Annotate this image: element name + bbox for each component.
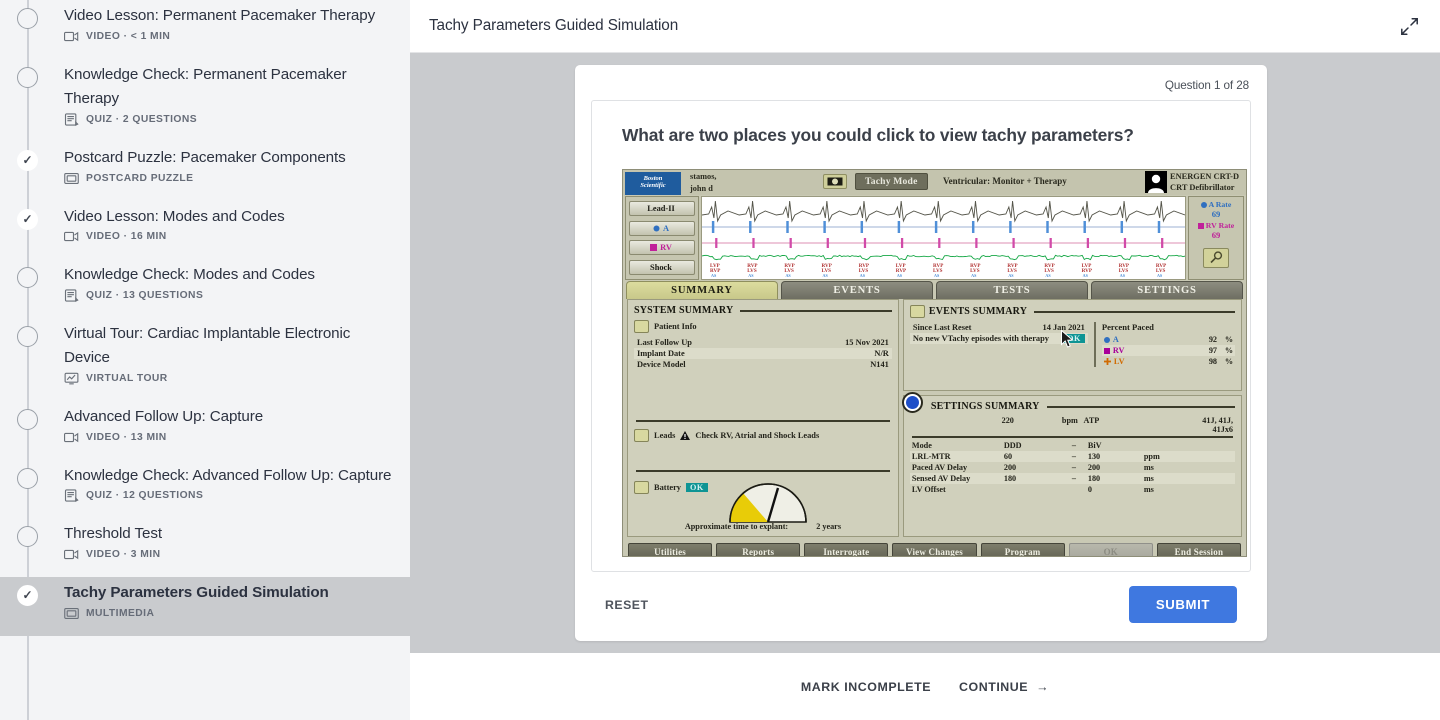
device-header: Boston Scientific stamos, john d Tachy M… (623, 170, 1246, 195)
title-rule (1034, 311, 1235, 313)
rate-legend-box: A Rate 69 RV Rate 69 (1188, 196, 1244, 280)
device-button-utilities[interactable]: Utilities (628, 543, 712, 557)
lesson-meta: VIDEO · < 1 MIN (64, 30, 392, 43)
device-button-view-changes[interactable]: View Changes (892, 543, 976, 557)
lesson-item[interactable]: ✓Postcard Puzzle: Pacemaker ComponentsPO… (0, 142, 410, 201)
leads-row[interactable]: Leads Check RV, Atrial and Shock Leads (634, 429, 892, 442)
a-marker (972, 221, 974, 233)
explant-label: Approximate time to explant: (685, 522, 788, 531)
svg-text:AS: AS (897, 273, 903, 278)
device-model-line1: ENERGEN CRT-D (1170, 171, 1239, 182)
device-tab-label: SUMMARY (671, 285, 733, 296)
ventricular-mode-label: Ventricular: Monitor + Therapy (943, 176, 1067, 186)
events-split: Since Last Reset 14 Jan 2021 No new VTac… (910, 322, 1235, 367)
marker-circle-icon (1104, 337, 1110, 343)
lesson-meta-text: QUIZ · 2 QUESTIONS (86, 114, 197, 125)
continue-button[interactable]: CONTINUE → (959, 680, 1049, 694)
set-label: LRL-MTR (912, 452, 1004, 461)
lesson-sidebar: Video Lesson: Permanent Pacemaker Therap… (0, 0, 410, 720)
set-label: Mode (912, 441, 1004, 450)
set-v1: DDD (1004, 441, 1060, 450)
settings-row: Paced AV Delay200–200ms (910, 462, 1235, 473)
lead-button-lead-ii[interactable]: Lead-II (629, 201, 695, 216)
lesson-meta: VIDEO · 13 MIN (64, 431, 392, 444)
set-label: LV Offset (912, 485, 1004, 494)
lesson-meta-text: VIDEO · 3 MIN (86, 549, 161, 560)
lead-button-group: Lead-II A RV Shock (625, 196, 699, 280)
settings-energies: 41J, 41J, 41Jx6 (1181, 416, 1233, 434)
settings-row: LV Offset0ms (910, 484, 1235, 495)
patient-name: stamos, john d (690, 171, 717, 193)
set-unit: ms (1144, 463, 1188, 472)
expand-arrows-icon[interactable] (1396, 13, 1422, 39)
submit-button[interactable]: SUBMIT (1129, 586, 1237, 623)
device-tab-tests[interactable]: TESTS (936, 281, 1088, 299)
events-summary-title: EVENTS SUMMARY (910, 305, 1235, 318)
percent-paced-row: LV98% (1102, 356, 1235, 367)
device-button-label: Interrogate (823, 547, 869, 557)
v-marker (827, 238, 829, 248)
lesson-meta-text: QUIZ · 13 QUESTIONS (86, 290, 203, 301)
lead-button-rv[interactable]: RV (629, 240, 695, 255)
quiz-icon (64, 113, 79, 126)
marker-plus-icon (1104, 358, 1111, 365)
activity-stage: Question 1 of 28 What are two places you… (410, 53, 1440, 653)
ecg-traces: LVPRVPASRVPLVSASRVPLVSASRVPLVSASRVPLVSAS… (702, 197, 1185, 279)
lesson-list: Video Lesson: Permanent Pacemaker Therap… (0, 0, 410, 636)
lesson-item[interactable]: Knowledge Check: Advanced Follow Up: Cap… (0, 460, 410, 519)
v-marker (864, 238, 866, 248)
device-button-interrogate[interactable]: Interrogate (804, 543, 888, 557)
settings-summary-panel[interactable]: SETTINGS SUMMARY 220 bpm ATP (903, 395, 1242, 537)
battery-icon (634, 481, 649, 494)
percent-paced-block: Percent Paced A92%RV97%LV98% (1102, 322, 1235, 367)
arrow-right-icon: → (1036, 680, 1049, 694)
settings-rows: ModeDDD–BiVLRL-MTR60–130ppmPaced AV Dela… (910, 440, 1235, 495)
pp-name: A (1104, 335, 1195, 344)
device-tab-summary[interactable]: SUMMARY (626, 281, 778, 299)
device-toggle-icon[interactable] (823, 174, 847, 189)
logo-line-2: Scientific (640, 183, 665, 190)
device-model-text: ENERGEN CRT-D CRT Defibrillator (1170, 171, 1239, 194)
svg-text:AS: AS (748, 273, 754, 278)
settings-bullet-icon (902, 392, 923, 413)
pp-value: 97 (1195, 346, 1217, 355)
system-summary-row: Last Follow Up15 Nov 2021 (634, 337, 892, 348)
ecg-waveform-area[interactable]: LVPRVPASRVPLVSASRVPLVSASRVPLVSASRVPLVSAS… (701, 196, 1186, 280)
pp-name: RV (1104, 346, 1195, 355)
patient-info-row[interactable]: Patient Info (634, 320, 892, 333)
set-v1: 180 (1004, 474, 1060, 483)
v-marker (1161, 238, 1163, 248)
lesson-meta: QUIZ · 13 QUESTIONS (64, 289, 392, 302)
v-marker (901, 238, 903, 248)
device-tab-events[interactable]: EVENTS (781, 281, 933, 299)
lesson-status-incomplete-icon (17, 67, 38, 88)
settings-summary-title: SETTINGS SUMMARY (910, 401, 1235, 412)
lesson-status-complete-icon: ✓ (17, 585, 38, 606)
set-unit (1144, 441, 1188, 450)
svg-text:AS: AS (1083, 273, 1089, 278)
set-v1: 200 (1004, 463, 1060, 472)
device-model-line2: CRT Defibrillator (1170, 182, 1239, 193)
lesson-meta: VIDEO · 16 MIN (64, 230, 392, 243)
v-marker (715, 238, 717, 248)
video-icon (64, 230, 79, 243)
divider (636, 420, 890, 422)
set-unit: ms (1144, 485, 1188, 494)
leads-icon (634, 429, 649, 442)
lesson-meta-text: VIDEO · < 1 MIN (86, 31, 170, 42)
set-v2: 200 (1088, 463, 1144, 472)
question-actions: RESET SUBMIT (591, 572, 1251, 641)
settings-rate-unit: bpm (1056, 416, 1083, 434)
a-marker (823, 221, 825, 233)
lesson-status-incomplete-icon (17, 326, 38, 347)
lesson-status-incomplete-icon (17, 468, 38, 489)
device-panels: SYSTEM SUMMARY Patient Info Last Follow … (623, 299, 1246, 537)
rv-rate-legend: RV Rate (1198, 221, 1234, 230)
svg-text:AS: AS (785, 273, 791, 278)
set-v1 (1004, 485, 1060, 494)
lesson-item[interactable]: Knowledge Check: Modes and CodesQUIZ · 1… (0, 259, 410, 318)
question-body: What are two places you could click to v… (591, 100, 1251, 572)
since-last-reset-label: Since Last Reset (913, 323, 972, 332)
leads-warning-text: Check RV, Atrial and Shock Leads (695, 431, 819, 440)
title-rule (1047, 406, 1235, 408)
a-marker (898, 221, 900, 233)
video-icon (64, 30, 79, 43)
device-button-label: OK (1104, 547, 1118, 557)
question-counter: Question 1 of 28 (591, 79, 1251, 100)
lesson-status-incomplete-icon (17, 409, 38, 430)
battery-status-badge: OK (686, 483, 708, 492)
a-marker-icon (653, 225, 660, 232)
row-label: Last Follow Up (637, 338, 692, 347)
lesson-item[interactable]: Virtual Tour: Cardiac Implantable Electr… (0, 318, 410, 401)
video-icon (64, 431, 79, 444)
set-v2: 180 (1088, 474, 1144, 483)
device-button-label: Program (1005, 547, 1041, 557)
patient-last-name: stamos, (690, 171, 717, 182)
percent-paced-row: RV97% (1102, 345, 1235, 356)
lesson-title: Virtual Tour: Cardiac Implantable Electr… (64, 322, 392, 371)
set-v1: 60 (1004, 452, 1060, 461)
device-tab-label: EVENTS (833, 285, 880, 296)
lesson-meta-text: VIDEO · 16 MIN (86, 231, 167, 242)
v-marker (1124, 238, 1126, 248)
set-label: Paced AV Delay (912, 463, 1004, 472)
lesson-status-complete-icon: ✓ (17, 209, 38, 230)
v-marker (975, 238, 977, 248)
rv-marker-icon (650, 244, 657, 251)
pp-name: LV (1104, 357, 1195, 366)
lesson-meta-text: QUIZ · 12 QUESTIONS (86, 490, 203, 501)
events-message: No new VTachy episodes with therapy (913, 334, 1049, 343)
device-button-label: Utilities (654, 547, 686, 557)
set-unit: ms (1144, 474, 1188, 483)
waveform-band: Lead-II A RV Shock (623, 195, 1246, 280)
events-status-badge: OK (1063, 334, 1085, 343)
system-summary-title: SYSTEM SUMMARY (634, 305, 892, 316)
rv-rate-label: RV Rate (1206, 221, 1234, 230)
activity-footer: MARK INCOMPLETE CONTINUE → (410, 653, 1440, 720)
percent-paced-rows: A92%RV97%LV98% (1102, 334, 1235, 367)
quiz-icon (64, 489, 79, 502)
patient-info-label: Patient Info (654, 322, 697, 331)
system-summary-rows: Last Follow Up15 Nov 2021Implant DateN/R… (634, 337, 892, 370)
settings-summary-title-text: SETTINGS SUMMARY (931, 401, 1040, 412)
divider (636, 470, 890, 472)
battery-label: Battery (654, 483, 681, 492)
multimedia-icon (64, 172, 79, 185)
settings-header-row: 220 bpm ATP 41J, 41J, 41Jx6 (910, 416, 1235, 436)
lesson-title: Postcard Puzzle: Pacemaker Components (64, 146, 392, 171)
device-tab-label: SETTINGS (1137, 285, 1196, 296)
explant-gauge (726, 481, 810, 523)
row-label: Implant Date (637, 349, 685, 358)
pp-unit: % (1217, 346, 1233, 355)
quiz-icon (64, 289, 79, 302)
marker-square-icon (1104, 348, 1110, 354)
a-rate-legend: A Rate (1201, 200, 1232, 209)
patient-first-name: john d (690, 183, 717, 194)
lesson-item[interactable]: ✓Video Lesson: Modes and CodesVIDEO · 16… (0, 201, 410, 260)
settings-row: ModeDDD–BiV (910, 440, 1235, 451)
lesson-title: Video Lesson: Permanent Pacemaker Therap… (64, 4, 392, 29)
boston-scientific-logo: Boston Scientific (625, 172, 681, 195)
a-rate-value: 69 (1212, 209, 1221, 219)
lesson-title: Video Lesson: Modes and Codes (64, 205, 392, 230)
pp-value: 92 (1195, 335, 1217, 344)
set-v2: BiV (1088, 441, 1144, 450)
events-message-row: No new VTachy episodes with therapy OK (910, 333, 1088, 344)
v-marker (752, 238, 754, 248)
svg-text:AS: AS (711, 273, 717, 278)
svg-text:AS: AS (860, 273, 866, 278)
set-label: Sensed AV Delay (912, 474, 1004, 483)
device-button-program[interactable]: Program (981, 543, 1065, 557)
warning-triangle-icon (680, 431, 690, 440)
continue-label: CONTINUE (959, 680, 1028, 694)
lead-label: Shock (650, 261, 672, 274)
set-dash: – (1060, 474, 1088, 483)
tour-icon (64, 372, 79, 385)
leads-label: Leads (654, 431, 675, 440)
a-marker (1009, 221, 1011, 233)
row-value: 15 Nov 2021 (845, 338, 889, 347)
lead-button-shock[interactable]: Shock (629, 260, 695, 275)
a-marker (935, 221, 937, 233)
rv-rate-marker-icon (1198, 223, 1204, 229)
pp-unit: % (1217, 335, 1233, 344)
pacemaker-programmer-screen[interactable]: Boston Scientific stamos, john d Tachy M… (622, 169, 1247, 557)
svg-text:AS: AS (1120, 273, 1126, 278)
lesson-title: Advanced Follow Up: Capture (64, 405, 392, 430)
system-summary-row: Device ModelN141 (634, 359, 892, 370)
since-last-reset-value: 14 Jan 2021 (1043, 323, 1085, 332)
a-marker (1046, 221, 1048, 233)
lead-label: A (663, 222, 669, 235)
lesson-item[interactable]: Advanced Follow Up: CaptureVIDEO · 13 MI… (0, 401, 410, 460)
lesson-title: Knowledge Check: Modes and Codes (64, 263, 392, 288)
question-card: Question 1 of 28 What are two places you… (575, 65, 1267, 641)
lesson-status-incomplete-icon (17, 526, 38, 547)
video-icon (64, 548, 79, 561)
course-player: Video Lesson: Permanent Pacemaker Therap… (0, 0, 1440, 720)
device-button-label: End Session (1175, 547, 1223, 557)
lesson-status-incomplete-icon (17, 8, 38, 29)
events-left: Since Last Reset 14 Jan 2021 No new VTac… (910, 322, 1088, 367)
lesson-title: Knowledge Check: Advanced Follow Up: Cap… (64, 464, 392, 489)
svg-text:AS: AS (1045, 273, 1051, 278)
svg-text:AS: AS (971, 273, 977, 278)
events-divider (1094, 322, 1096, 367)
row-value: N/R (874, 349, 888, 358)
device-tab-settings[interactable]: SETTINGS (1091, 281, 1243, 299)
lesson-title: Knowledge Check: Permanent Pacemaker The… (64, 63, 392, 112)
lesson-status-incomplete-icon (17, 267, 38, 288)
a-rate-marker-icon (1201, 202, 1207, 208)
lesson-meta-text: VIDEO · 13 MIN (86, 432, 167, 443)
patient-avatar-icon (1145, 171, 1167, 193)
set-dash: – (1060, 463, 1088, 472)
lesson-meta-text: POSTCARD PUZZLE (86, 173, 193, 184)
lead-label: RV (660, 241, 672, 254)
lesson-title: Tachy Parameters Guided Simulation (64, 581, 392, 606)
svg-text:AS: AS (934, 273, 940, 278)
lesson-item[interactable]: Threshold TestVIDEO · 3 MIN (0, 518, 410, 577)
v-marker (1087, 238, 1089, 248)
svg-text:AS: AS (823, 273, 829, 278)
lesson-status-complete-icon: ✓ (17, 150, 38, 171)
gauge-icon (726, 481, 810, 523)
mark-incomplete-button[interactable]: MARK INCOMPLETE (801, 680, 931, 694)
lesson-meta: VIRTUAL TOUR (64, 372, 392, 385)
right-panel-column: EVENTS SUMMARY Since Last Reset 14 Jan 2… (903, 299, 1242, 537)
settings-row: LRL-MTR60–130ppm (910, 451, 1235, 462)
settings-atp: ATP (1084, 416, 1139, 434)
lesson-meta: QUIZ · 12 QUESTIONS (64, 489, 392, 502)
a-marker (861, 221, 863, 233)
settings-rate: 220 (1002, 416, 1057, 434)
pp-label: A (1113, 335, 1119, 344)
lead-button-a[interactable]: A (629, 221, 695, 236)
set-dash: – (1060, 441, 1088, 450)
device-button-end-session[interactable]: End Session (1157, 543, 1241, 557)
device-tab-label: TESTS (994, 285, 1031, 296)
system-summary-title-text: SYSTEM SUMMARY (634, 305, 733, 316)
a-rate-label: A Rate (1209, 200, 1232, 209)
percent-paced-row: A92% (1102, 334, 1235, 345)
device-button-ok: OK (1069, 543, 1153, 557)
row-label: Device Model (637, 360, 686, 369)
lesson-meta-text: MULTIMEDIA (86, 608, 154, 619)
a-marker (1083, 221, 1085, 233)
device-model-block: ENERGEN CRT-D CRT Defibrillator (1145, 171, 1239, 194)
multimedia-icon (64, 607, 79, 620)
v-marker (938, 238, 940, 248)
set-v2: 130 (1088, 452, 1144, 461)
lesson-meta: QUIZ · 2 QUESTIONS (64, 113, 392, 126)
battery-row[interactable]: Battery OK (634, 479, 708, 494)
pp-label: LV (1114, 357, 1125, 366)
v-marker (1050, 238, 1052, 248)
a-marker (1121, 221, 1123, 233)
events-icon (910, 305, 925, 318)
device-button-label: View Changes (906, 547, 963, 557)
v-marker (790, 238, 792, 248)
pp-unit: % (1217, 357, 1233, 366)
device-button-label: Reports (742, 547, 774, 557)
set-dash: – (1060, 452, 1088, 461)
settings-row: Sensed AV Delay180–180ms (910, 473, 1235, 484)
a-marker (712, 221, 714, 233)
device-tab-bar: SUMMARYEVENTSTESTSSETTINGS (623, 280, 1246, 299)
magnifier-icon[interactable] (1203, 248, 1229, 268)
since-last-reset-row: Since Last Reset 14 Jan 2021 (910, 322, 1088, 333)
rv-rate-value: 69 (1212, 230, 1221, 240)
lesson-meta: VIDEO · 3 MIN (64, 548, 392, 561)
lesson-title: Threshold Test (64, 522, 392, 547)
events-summary-title-text: EVENTS SUMMARY (929, 306, 1027, 317)
percent-paced-title: Percent Paced (1102, 322, 1235, 332)
question-text: What are two places you could click to v… (622, 125, 1220, 146)
explant-value: 2 years (816, 522, 841, 531)
set-dash (1060, 485, 1088, 494)
explant-line: Approximate time to explant: 2 years (634, 522, 892, 531)
title-rule (740, 310, 891, 312)
a-marker (1158, 221, 1160, 233)
a-marker (749, 221, 751, 233)
v-marker (1012, 238, 1014, 248)
settings-rule (912, 436, 1233, 438)
page-title: Tachy Parameters Guided Simulation (429, 17, 678, 35)
system-summary-panel: SYSTEM SUMMARY Patient Info Last Follow … (627, 299, 899, 537)
lesson-item[interactable]: ✓Tachy Parameters Guided SimulationMULTI… (0, 577, 410, 636)
tachy-mode-button[interactable]: Tachy Mode (855, 173, 928, 190)
lesson-item[interactable]: Video Lesson: Permanent Pacemaker Therap… (0, 0, 410, 59)
content-pane: Tachy Parameters Guided Simulation Quest… (410, 0, 1440, 720)
row-value: N141 (870, 360, 889, 369)
set-unit: ppm (1144, 452, 1188, 461)
device-button-bar: UtilitiesReportsInterrogateView ChangesP… (623, 537, 1246, 557)
device-button-reports[interactable]: Reports (716, 543, 800, 557)
events-summary-panel: EVENTS SUMMARY Since Last Reset 14 Jan 2… (903, 299, 1242, 391)
lesson-item[interactable]: Knowledge Check: Permanent Pacemaker The… (0, 59, 410, 142)
patient-info-icon (634, 320, 649, 333)
pp-label: RV (1113, 346, 1125, 355)
set-v2: 0 (1088, 485, 1144, 494)
svg-text:AS: AS (1157, 273, 1163, 278)
svg-text:AS: AS (1008, 273, 1014, 278)
pp-value: 98 (1195, 357, 1217, 366)
a-marker (786, 221, 788, 233)
lesson-meta-text: VIRTUAL TOUR (86, 373, 168, 384)
lead-label: Lead-II (647, 202, 674, 215)
lesson-meta: MULTIMEDIA (64, 607, 392, 620)
content-header: Tachy Parameters Guided Simulation (410, 0, 1440, 53)
reset-button[interactable]: RESET (605, 598, 649, 612)
lesson-meta: POSTCARD PUZZLE (64, 172, 392, 185)
system-summary-row: Implant DateN/R (634, 348, 892, 359)
